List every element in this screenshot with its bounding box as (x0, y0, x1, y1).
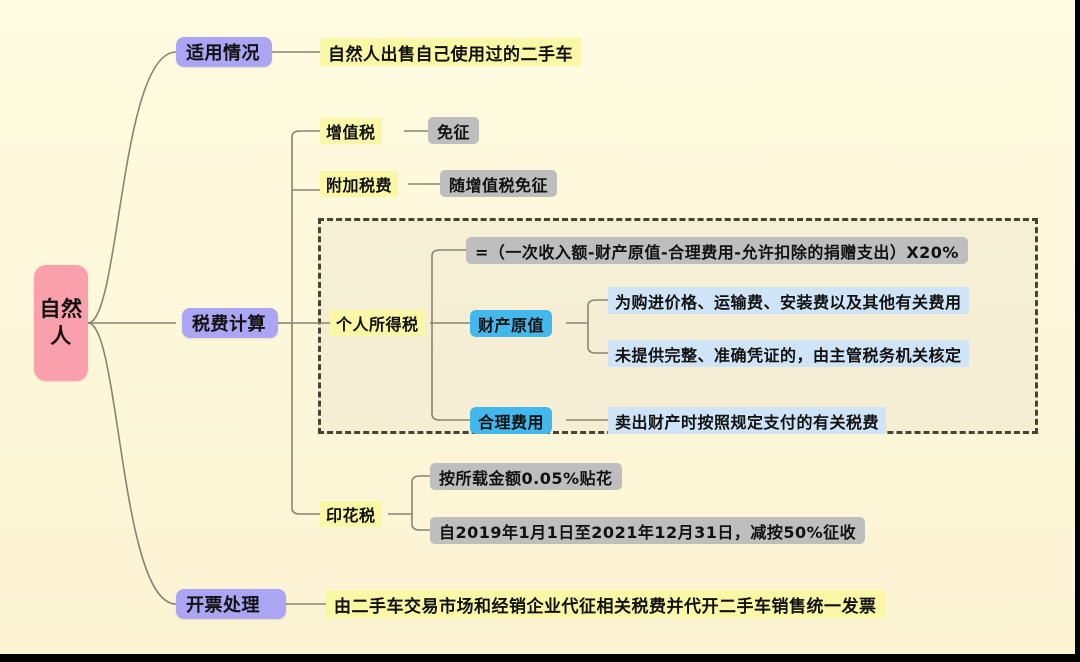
branch-node-label: 开票处理 (186, 591, 276, 617)
mindmap-canvas-frame: 自然人 适用情况 自然人出售自己使用过的二手车 税费计算 增值税 免征 附加税费… (0, 0, 1080, 662)
node-stamp-duty-label[interactable]: 印花税 (320, 501, 382, 527)
root-node-natural-person[interactable]: 自然人 (34, 265, 88, 381)
node-surtax-label[interactable]: 附加税费 (320, 171, 398, 197)
node-personal-income-tax-label[interactable]: 个人所得税 (330, 310, 425, 336)
node-surtax-value[interactable]: 随增值税免征 (440, 170, 557, 197)
branch-node-applicable-situation[interactable]: 适用情况 (176, 37, 272, 67)
node-reasonable-expense-detail-1[interactable]: 卖出财产时按照规定支付的有关税费 (608, 407, 886, 434)
leaf-applicable-situation-detail[interactable]: 自然人出售自己使用过的二手车 (320, 38, 581, 66)
node-original-property-value-term[interactable]: 财产原值 (470, 310, 552, 337)
node-stamp-duty-value-1[interactable]: 按所载金额0.05%贴花 (430, 463, 622, 490)
branch-node-label: 适用情况 (186, 39, 262, 65)
branch-node-tax-calculation[interactable]: 税费计算 (182, 308, 278, 338)
node-original-property-value-detail-2[interactable]: 未提供完整、准确凭证的，由主管税务机关核定 (608, 340, 969, 367)
leaf-invoice-handling-detail[interactable]: 由二手车交易市场和经销企业代征相关税费并代开二手车销售统一发票 (326, 590, 885, 618)
node-stamp-duty-value-2[interactable]: 自2019年1月1日至2021年12月31日，减按50%征收 (430, 517, 865, 544)
node-original-property-value-detail-1[interactable]: 为购进价格、运输费、安装费以及其他有关费用 (608, 287, 969, 314)
branch-node-label: 税费计算 (192, 310, 268, 336)
node-reasonable-expense-term[interactable]: 合理费用 (470, 407, 552, 434)
mindmap-canvas: 自然人 适用情况 自然人出售自己使用过的二手车 税费计算 增值税 免征 附加税费… (0, 0, 1075, 654)
branch-node-invoice-handling[interactable]: 开票处理 (176, 589, 286, 619)
node-vat-value[interactable]: 免征 (428, 117, 479, 144)
node-personal-income-tax-formula[interactable]: =（一次收入额-财产原值-合理费用-允许扣除的捐赠支出）X20% (466, 237, 968, 264)
root-node-label: 自然人 (34, 296, 88, 350)
node-vat-label[interactable]: 增值税 (320, 118, 382, 144)
